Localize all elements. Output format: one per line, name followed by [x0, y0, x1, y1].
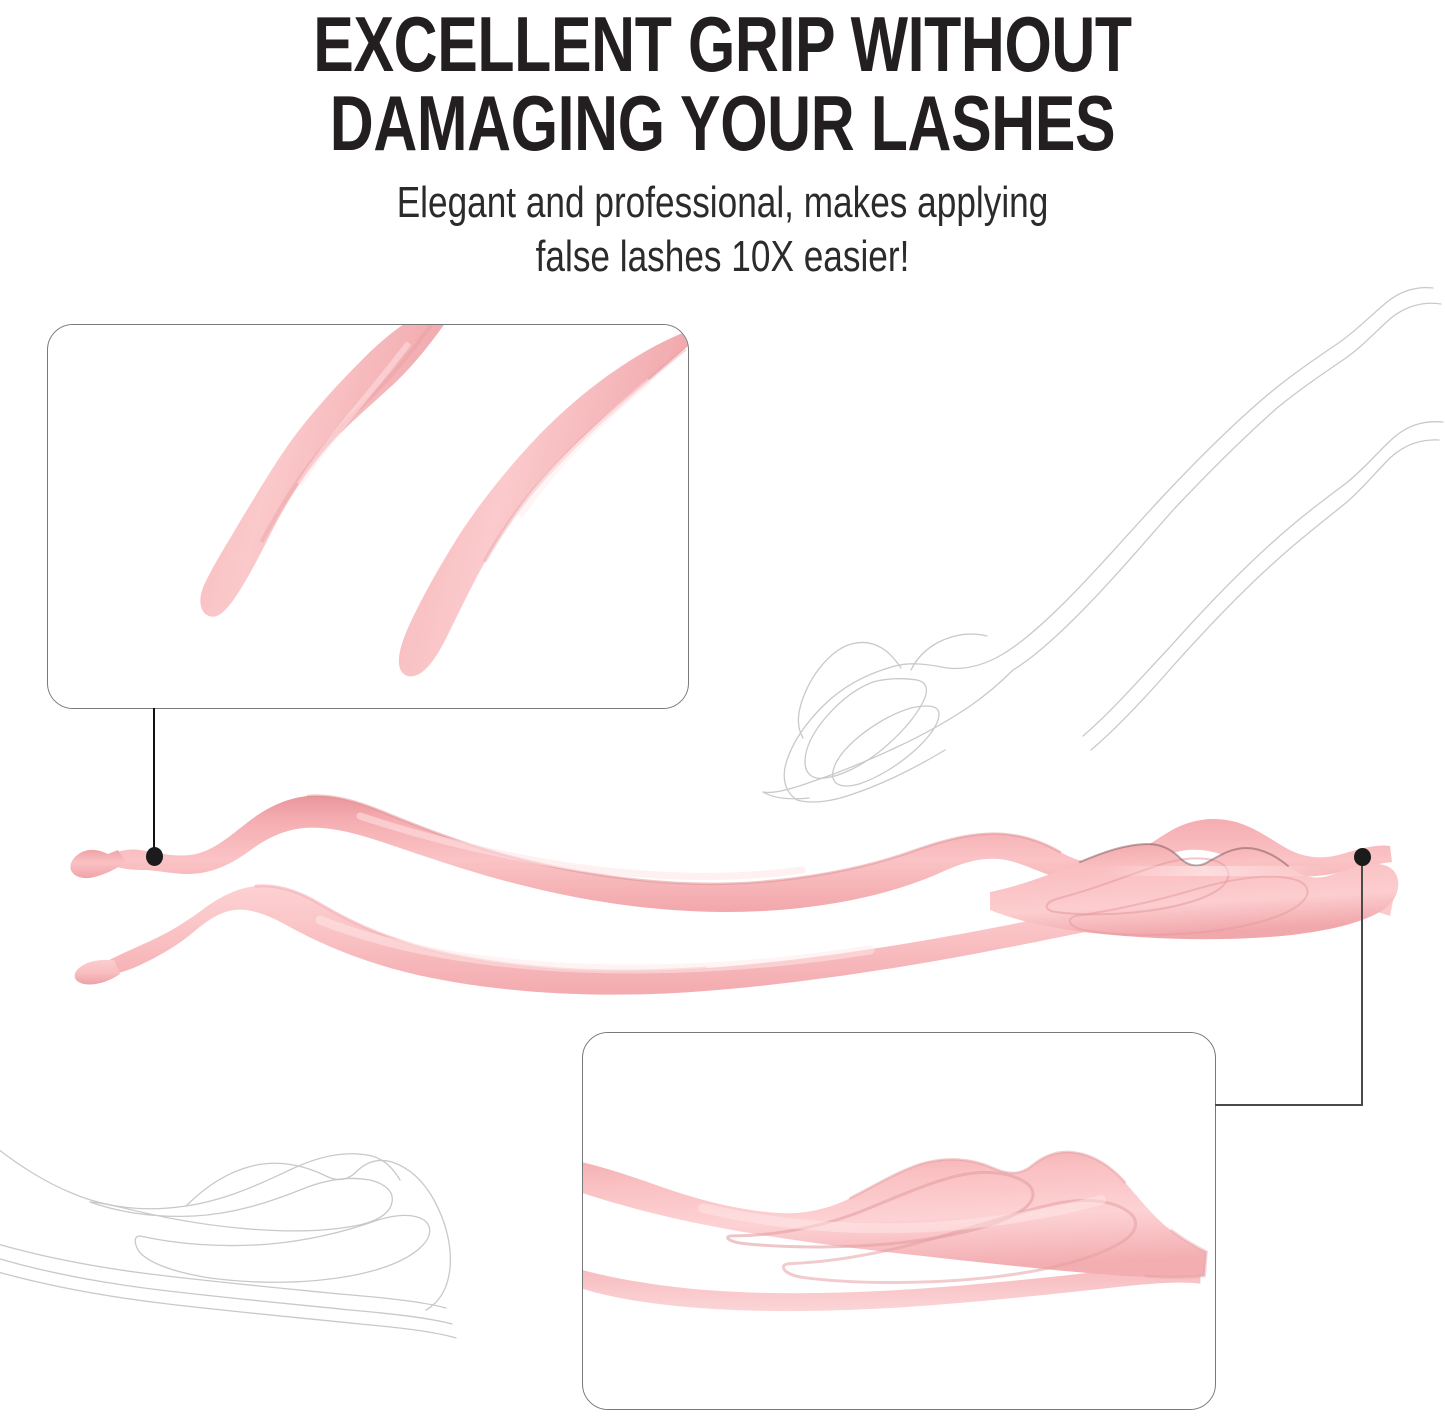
handle-scallop-crease: [1080, 844, 1288, 866]
header-text-block: EXCELLENT GRIP WITHOUT DAMAGING YOUR LAS…: [0, 0, 1445, 284]
leader-line-handle-vertical: [1361, 856, 1363, 1106]
product-upper-tip: [70, 850, 126, 878]
leader-line-handle-horizontal: [1215, 1104, 1363, 1106]
ghost-outline-tweezer-handle: [0, 1120, 570, 1420]
ghost-outline-tweezer-full: [715, 270, 1445, 790]
callout-tip-detail[interactable]: [47, 324, 689, 709]
handle-ridge-1: [1047, 858, 1229, 914]
upper-arm-crease: [308, 796, 1060, 884]
product-feature-image: EXCELLENT GRIP WITHOUT DAMAGING YOUR LAS…: [0, 0, 1445, 1420]
main-product-illustration: [60, 770, 1400, 1000]
lower-arm-crease: [256, 886, 706, 971]
upper-arm-highlight: [360, 816, 802, 876]
subtitle-line-2: false lashes 10X easier!: [145, 230, 1301, 284]
headline-line-2: DAMAGING YOUR LASHES: [159, 85, 1286, 162]
subtitle-line-1: Elegant and professional, makes applying: [145, 176, 1301, 230]
product-lower-tip: [75, 960, 120, 984]
marker-dot-handle: [1354, 848, 1371, 866]
handle-ridge-2: [1070, 877, 1308, 935]
marker-dot-tip: [146, 847, 163, 866]
headline-line-1: EXCELLENT GRIP WITHOUT: [159, 6, 1286, 83]
handle-sheen: [1100, 866, 1330, 876]
callout-handle-detail[interactable]: [582, 1032, 1216, 1410]
product-lower-arm: [98, 880, 1394, 995]
lower-arm-highlight: [320, 920, 870, 969]
product-handle-wing: [990, 844, 1398, 939]
product-upper-arm: [102, 796, 1392, 912]
leader-line-tip-callout: [153, 708, 155, 858]
